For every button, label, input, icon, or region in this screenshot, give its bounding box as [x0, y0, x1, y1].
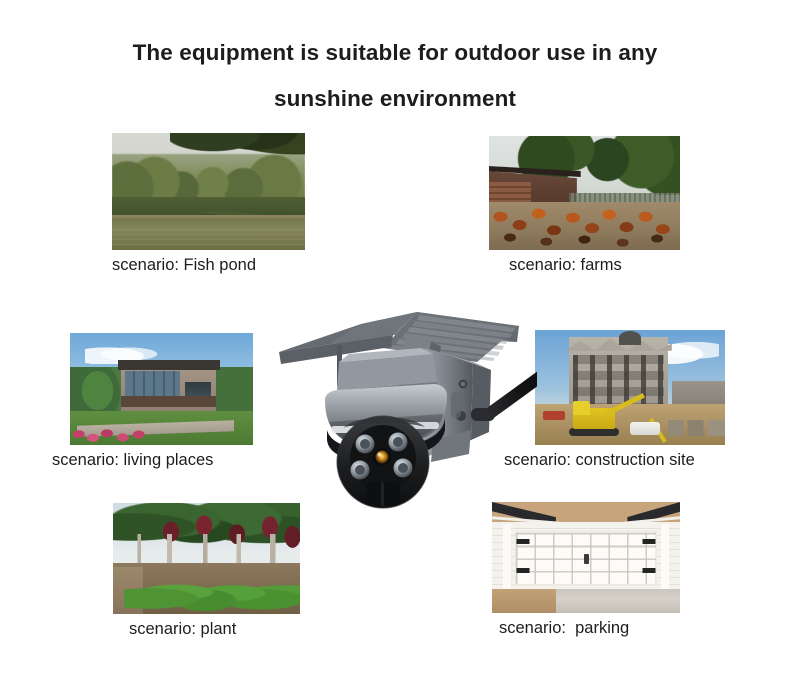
scenario-image-plant	[113, 503, 300, 614]
site-building-dome	[619, 331, 642, 345]
scenario-caption-fish-pond: scenario: Fish pond	[112, 255, 305, 275]
site-red-truck	[543, 411, 566, 420]
excavator-cab	[573, 401, 590, 415]
site-building-windows	[573, 355, 664, 403]
page-title: The equipment is suitable for outdoor us…	[0, 30, 790, 122]
product-solar-camera	[265, 290, 537, 512]
farm-chicken-flock	[489, 198, 680, 250]
page-title-line-1: The equipment is suitable for outdoor us…	[133, 40, 658, 65]
scenario-caption-parking: scenario: parking	[499, 618, 680, 638]
scenario-image-farms	[489, 136, 680, 250]
body-panel-seam	[451, 392, 461, 418]
pond-foreground-canopy	[170, 133, 305, 170]
villa-foreground-tree	[74, 371, 122, 420]
site-white-van	[630, 422, 660, 435]
scenario-caption-plant: scenario: plant	[129, 619, 300, 639]
villa-flower-bed	[70, 427, 158, 445]
villa-roof	[118, 360, 220, 370]
scenario-fish-pond: scenario: Fish pond	[112, 133, 305, 275]
scenario-image-parking	[492, 502, 680, 613]
pond-water-ripples	[112, 229, 305, 245]
ptz-head	[337, 416, 429, 508]
lens-highlight	[378, 453, 382, 457]
scenario-caption-living-places: scenario: living places	[52, 450, 253, 470]
scenario-image-fish-pond	[112, 133, 305, 250]
site-concrete-blocks	[668, 420, 725, 436]
garage-door-handle	[584, 554, 589, 564]
scenario-image-living-places	[70, 333, 253, 445]
excavator-tracks	[569, 428, 618, 436]
garage-dirt-patch	[492, 589, 556, 613]
scenario-image-construction-site	[535, 330, 725, 445]
scenario-construction-site: scenario: construction site	[535, 330, 725, 470]
scenario-caption-construction-site: scenario: construction site	[504, 450, 725, 470]
villa-ground-floor	[121, 396, 216, 407]
scenario-farms: scenario: farms	[489, 136, 680, 275]
head-chin-seam	[381, 482, 384, 506]
scenario-parking: scenario: parking	[492, 502, 680, 638]
page-title-line-2: sunshine environment	[0, 76, 790, 122]
villa-windows	[125, 371, 180, 396]
lens	[376, 451, 389, 464]
plant-vegetable-rows	[124, 567, 300, 611]
scenario-caption-farms: scenario: farms	[509, 255, 680, 275]
scenario-living-places: scenario: living places	[70, 333, 253, 470]
scenario-plant: scenario: plant	[113, 503, 300, 639]
page-root: The equipment is suitable for outdoor us…	[0, 0, 790, 689]
